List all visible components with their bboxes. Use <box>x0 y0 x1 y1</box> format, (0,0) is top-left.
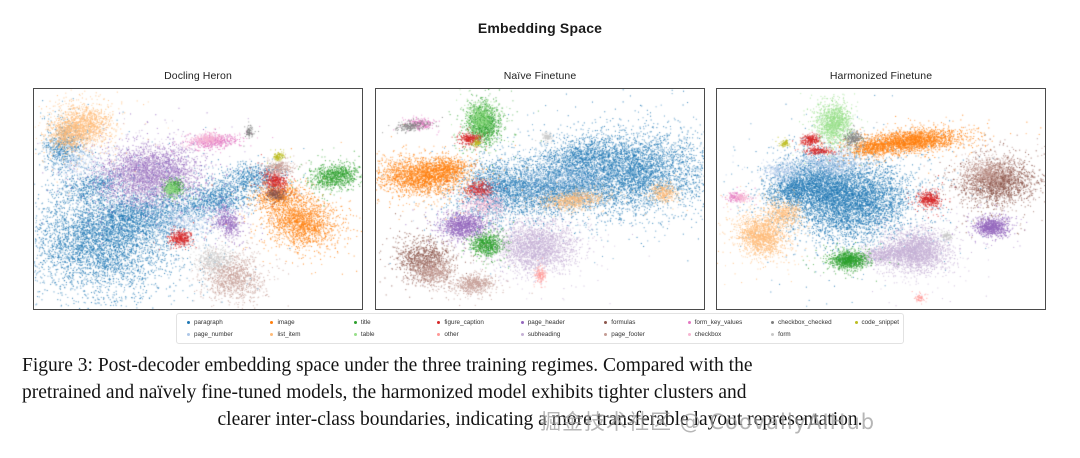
panel-harmonized-finetune: Harmonized Finetune <box>716 70 1046 310</box>
legend-label: page_number <box>194 329 233 340</box>
legend-item[interactable]: checkbox_checked <box>765 317 846 328</box>
legend-item[interactable]: title <box>348 317 429 328</box>
legend-label: title <box>361 317 371 328</box>
legend-label: page_header <box>528 317 565 328</box>
scatter-cloud-2 <box>717 89 1045 309</box>
legend-item[interactable]: form_key_values <box>682 317 763 328</box>
legend-label: form <box>778 329 791 340</box>
legend-item[interactable]: subheading <box>515 329 596 340</box>
legend-marker-icon <box>688 321 691 324</box>
legend-label: code_snippet <box>862 317 899 328</box>
legend-grid: paragraphpage_numberimagelist_itemtitlet… <box>181 317 899 340</box>
legend-item[interactable]: other <box>431 329 512 340</box>
legend-marker-icon <box>521 321 524 324</box>
page-title: Embedding Space <box>0 20 1080 36</box>
legend-marker-icon <box>855 321 858 324</box>
legend-marker-icon <box>437 333 440 336</box>
legend-item[interactable]: page_footer <box>598 329 679 340</box>
legend-item[interactable]: table <box>348 329 429 340</box>
legend-item[interactable]: code_snippet <box>849 317 899 328</box>
legend-marker-icon <box>771 321 774 324</box>
figure-caption: Figure 3: Post-decoder embedding space u… <box>22 352 1058 433</box>
scatter-axes-0 <box>33 88 363 310</box>
panel-naive-finetune: Naïve Finetune <box>375 70 705 310</box>
panel-title-1: Naïve Finetune <box>375 70 705 82</box>
legend-label: checkbox <box>695 329 722 340</box>
legend-label: table <box>361 329 375 340</box>
legend-label: other <box>444 329 458 340</box>
caption-line-1: Figure 3: Post-decoder embedding space u… <box>22 352 1058 379</box>
legend-label: subheading <box>528 329 561 340</box>
legend-label: figure_caption <box>444 317 484 328</box>
legend-item[interactable]: page_header <box>515 317 596 328</box>
legend-marker-icon <box>354 333 357 336</box>
legend-item[interactable]: checkbox <box>682 329 763 340</box>
legend-label: page_footer <box>611 329 645 340</box>
scatter-cloud-1 <box>376 89 704 309</box>
panel-row: Docling Heron Naïve Finetune Harmonized … <box>0 70 1080 310</box>
legend-label: form_key_values <box>695 317 743 328</box>
legend-label: list_item <box>277 329 300 340</box>
legend-marker-icon <box>604 333 607 336</box>
legend-marker-icon <box>270 333 273 336</box>
legend-label: paragraph <box>194 317 223 328</box>
legend-item[interactable]: form <box>765 329 846 340</box>
caption-line-2: pretrained and naïvely fine-tuned models… <box>22 379 1058 406</box>
legend-item[interactable]: page_number <box>181 329 262 340</box>
scatter-axes-2 <box>716 88 1046 310</box>
panel-docling-heron: Docling Heron <box>33 70 363 310</box>
legend-marker-icon <box>354 321 357 324</box>
caption-line-3: clearer inter-class boundaries, indicati… <box>22 406 1058 433</box>
legend-marker-icon <box>187 333 190 336</box>
legend-marker-icon <box>604 321 607 324</box>
legend-item[interactable]: paragraph <box>181 317 262 328</box>
legend-marker-icon <box>187 321 190 324</box>
scatter-axes-1 <box>375 88 705 310</box>
legend-label: checkbox_checked <box>778 317 832 328</box>
legend-marker-icon <box>437 321 440 324</box>
legend-item[interactable]: figure_caption <box>431 317 512 328</box>
legend-item[interactable]: image <box>264 317 345 328</box>
legend-marker-icon <box>270 321 273 324</box>
panel-title-2: Harmonized Finetune <box>716 70 1046 82</box>
legend-marker-icon <box>688 333 691 336</box>
legend-marker-icon <box>771 333 774 336</box>
legend-label: formulas <box>611 317 635 328</box>
figure-page: Embedding Space Docling Heron Naïve Fine… <box>0 0 1080 458</box>
legend-label: image <box>277 317 294 328</box>
chart-legend: paragraphpage_numberimagelist_itemtitlet… <box>176 313 904 344</box>
legend-marker-icon <box>521 333 524 336</box>
legend-item[interactable]: list_item <box>264 329 345 340</box>
panel-title-0: Docling Heron <box>33 70 363 82</box>
scatter-cloud-0 <box>34 89 362 309</box>
legend-item[interactable]: formulas <box>598 317 679 328</box>
